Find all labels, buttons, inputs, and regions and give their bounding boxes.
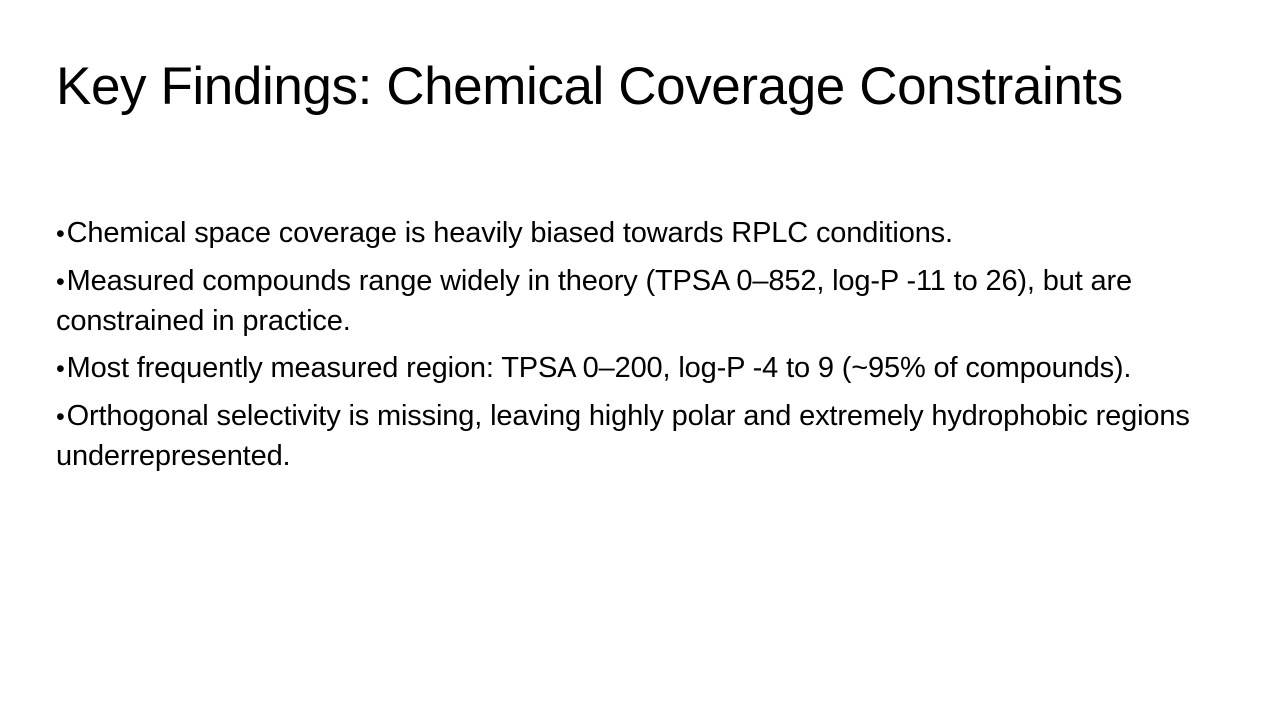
bullet-icon: • bbox=[56, 220, 67, 248]
list-item: •Measured compounds range widely in theo… bbox=[56, 262, 1214, 341]
list-item: •Most frequently measured region: TPSA 0… bbox=[56, 349, 1214, 389]
slide-canvas: Key Findings: Chemical Coverage Constrai… bbox=[0, 0, 1280, 720]
page-title: Key Findings: Chemical Coverage Constrai… bbox=[56, 51, 1216, 123]
list-item-text: Orthogonal selectivity is missing, leavi… bbox=[56, 400, 1190, 472]
list-item-text: Chemical space coverage is heavily biase… bbox=[67, 217, 953, 249]
list-item: •Orthogonal selectivity is missing, leav… bbox=[56, 397, 1214, 476]
bullet-icon: • bbox=[56, 403, 67, 431]
bullet-icon: • bbox=[56, 268, 67, 296]
list-item: •Chemical space coverage is heavily bias… bbox=[56, 214, 1214, 254]
list-item-text: Measured compounds range widely in theor… bbox=[56, 265, 1132, 337]
bullet-icon: • bbox=[56, 355, 67, 383]
bullet-list: •Chemical space coverage is heavily bias… bbox=[56, 214, 1214, 476]
list-item-text: Most frequently measured region: TPSA 0–… bbox=[67, 352, 1132, 384]
